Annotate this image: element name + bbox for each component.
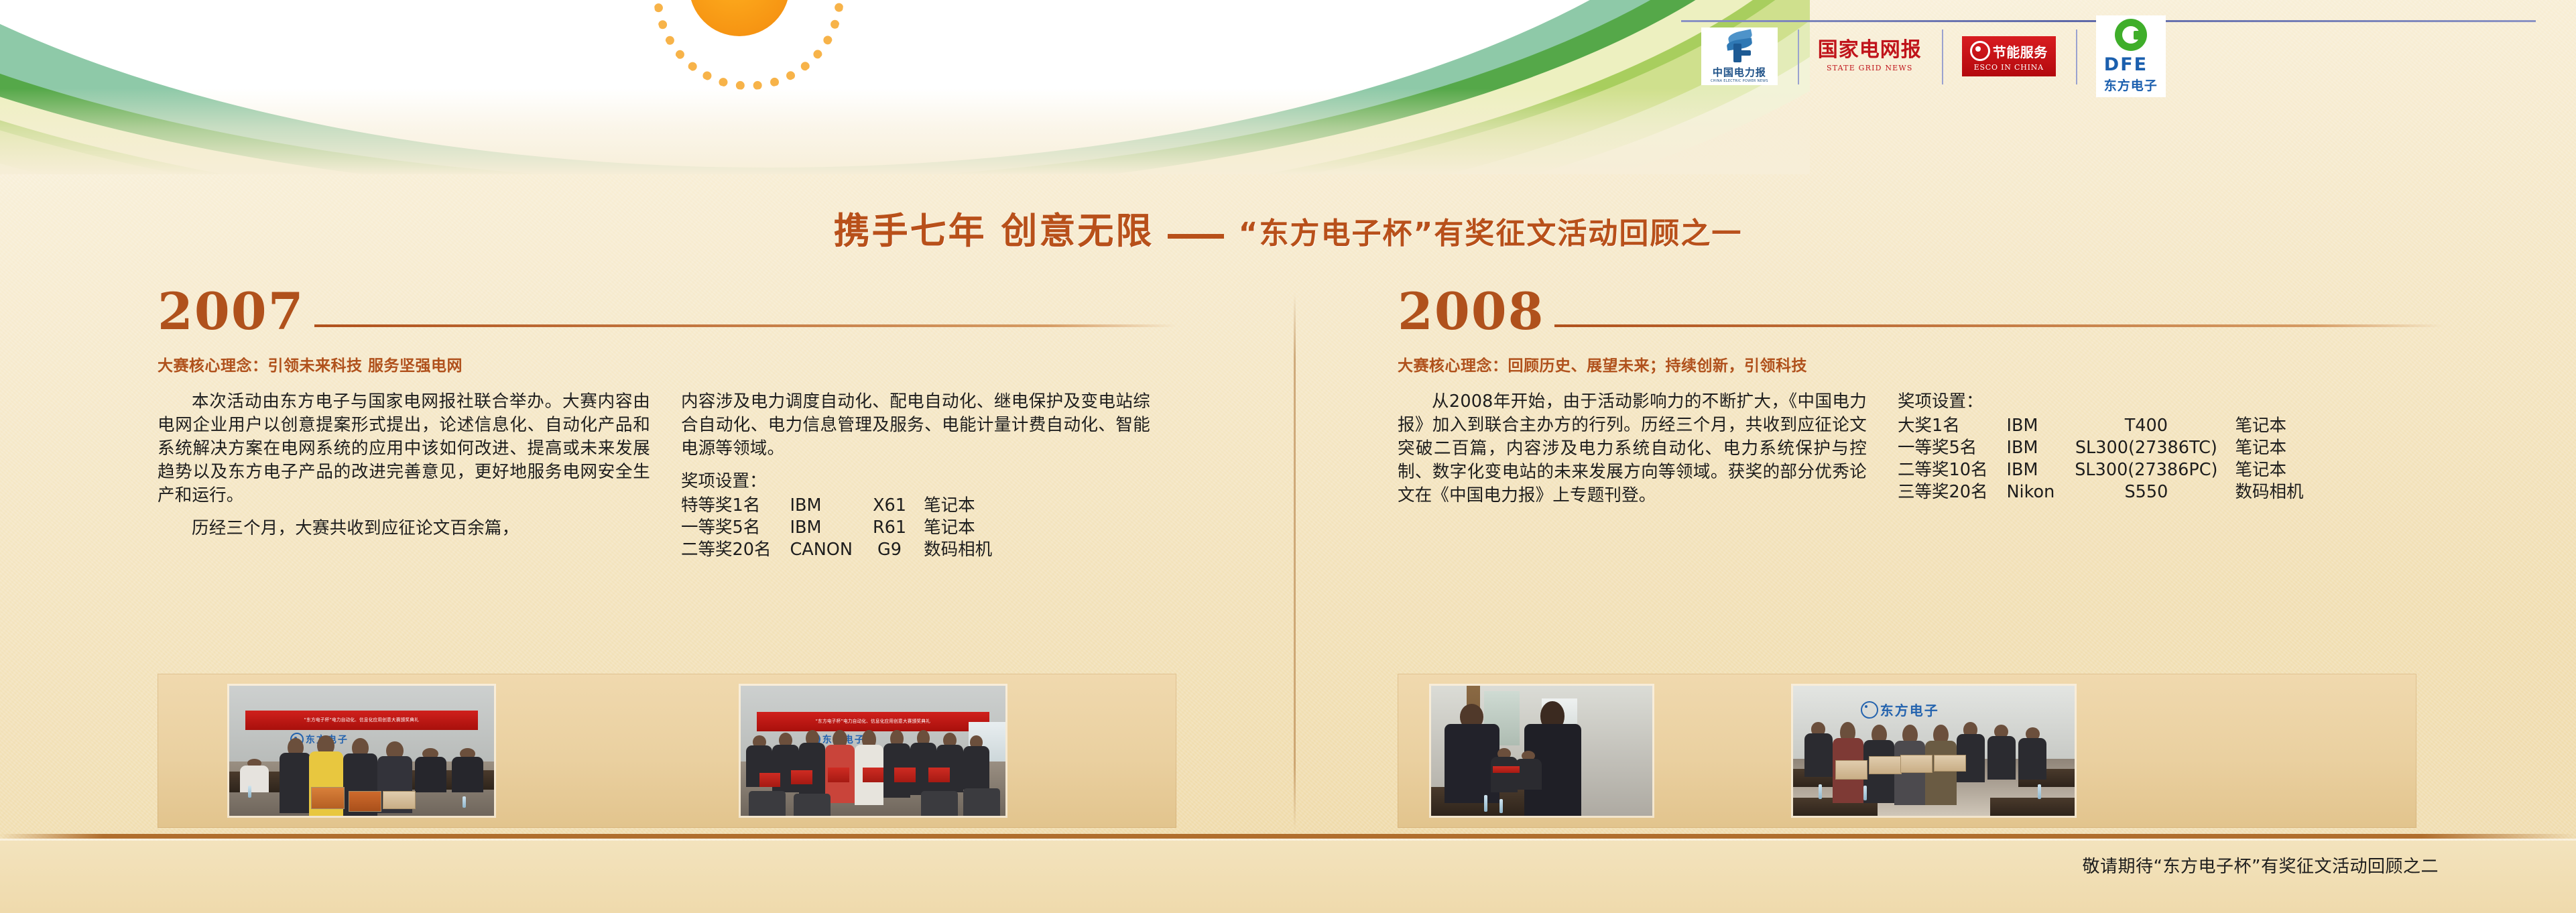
section-2008: 2008 大赛核心理念：回顾历史、展望未来；持续创新，引领科技 从2008年开始… bbox=[1398, 288, 2443, 517]
award-model: SL300(27386PC) bbox=[2075, 459, 2235, 481]
year-rule-2007 bbox=[314, 324, 1176, 327]
core-concept-2008: 大赛核心理念：回顾历史、展望未来；持续创新，引领科技 bbox=[1398, 353, 2443, 375]
award-brand: IBM bbox=[790, 517, 872, 539]
award-brand: IBM bbox=[2006, 437, 2075, 459]
awards-title-2007: 奖项设置： bbox=[681, 470, 1150, 493]
sgn-logo-en: STATE GRID NEWS bbox=[1827, 64, 1913, 72]
award-model: R61 bbox=[873, 517, 924, 539]
table-row: 二等奖10名 IBM SL300(27386PC) 笔记本 bbox=[1898, 459, 2304, 481]
paragraph: 本次活动由东方电子与国家电网报社联合举办。大赛内容由电网企业用户以创意提案形式提… bbox=[158, 390, 650, 507]
logo-state-grid-news: 国家电网报 STATE GRID NEWS bbox=[1798, 25, 1942, 87]
award-prize: 数码相机 bbox=[2235, 481, 2304, 503]
award-ceremony-photo-2: “东方电子杯”电力自动化、信息化应用创意大赛颁奖典礼 东方电子 bbox=[741, 686, 1005, 816]
award-level: 特等奖1名 bbox=[681, 495, 790, 517]
award-model: S550 bbox=[2075, 481, 2235, 503]
cepn-logo-en: CHINA ELECTRIC POWER NEWS bbox=[1711, 79, 1768, 83]
photo-strip-2007: “东方电子杯”电力自动化、信息化应用创意大赛颁奖典礼 东方电子 bbox=[158, 674, 1176, 828]
header-decorative-swoosh bbox=[0, 0, 1810, 174]
award-level: 二等奖20名 bbox=[681, 539, 790, 561]
photo-strip-2008: 东方电子 bbox=[1398, 674, 2416, 828]
title-dash bbox=[1168, 234, 1224, 239]
sponsor-logo-bar: 中国电力报 CHINA ELECTRIC POWER NEWS 国家电网报 ST… bbox=[1681, 5, 2536, 86]
award-prize: 笔记本 bbox=[924, 517, 992, 539]
column-divider bbox=[1294, 294, 1296, 830]
esco-globe-icon bbox=[1970, 41, 1990, 61]
award-brand: IBM bbox=[2006, 459, 2075, 481]
logo-esco-in-china: 节能服务 ESCO IN CHINA bbox=[1942, 25, 2076, 87]
esco-logo-cn: 节能服务 bbox=[1993, 42, 2048, 61]
body-left-2008: 从2008年开始，由于活动影响力的不断扩大，《中国电力报》加入到联合主办方的行列… bbox=[1398, 390, 1867, 517]
award-model: X61 bbox=[873, 495, 924, 517]
esco-logo-en: ESCO IN CHINA bbox=[1974, 63, 2044, 72]
award-ceremony-photo-1: “东方电子杯”电力自动化、信息化应用创意大赛颁奖典礼 东方电子 bbox=[229, 686, 494, 816]
table-row: 三等奖20名 Nikon S550 数码相机 bbox=[1898, 481, 2304, 503]
awards-title-2008: 奖项设置： bbox=[1898, 390, 2407, 414]
award-prize: 笔记本 bbox=[924, 495, 992, 517]
award-level: 二等奖10名 bbox=[1898, 459, 2006, 481]
award-brand: IBM bbox=[790, 495, 872, 517]
table-row: 二等奖20名 CANON G9 数码相机 bbox=[681, 539, 992, 561]
award-brand: CANON bbox=[790, 539, 872, 561]
award-prize: 笔记本 bbox=[2235, 459, 2304, 481]
year-heading-row-2008: 2008 bbox=[1398, 288, 2443, 335]
award-level: 大奖1名 bbox=[1898, 415, 2006, 437]
paragraph: 内容涉及电力调度自动化、配电自动化、继电保护及变电站综合自动化、电力信息管理及服… bbox=[681, 390, 1150, 461]
year-label-2007: 2007 bbox=[158, 288, 305, 335]
footer-rule bbox=[0, 834, 2576, 839]
section-2007: 2007 大赛核心理念：引领未来科技 服务坚强电网 本次活动由东方电子与国家电网… bbox=[158, 288, 1176, 561]
logo-dongfang-electronics: DFE 东方电子 bbox=[2076, 25, 2186, 87]
core-concept-2007: 大赛核心理念：引领未来科技 服务坚强电网 bbox=[158, 353, 1176, 375]
logo-china-electric-power-news: 中国电力报 CHINA ELECTRIC POWER NEWS bbox=[1681, 25, 1798, 87]
paragraph: 从2008年开始，由于活动影响力的不断扩大，《中国电力报》加入到联合主办方的行列… bbox=[1398, 390, 1867, 507]
table-row: 大奖1名 IBM T400 笔记本 bbox=[1898, 415, 2304, 437]
award-prize: 数码相机 bbox=[924, 539, 992, 561]
award-model: T400 bbox=[2075, 415, 2235, 437]
footer-text: 敬请期待“东方电子杯”有奖征文活动回顾之二 bbox=[2083, 853, 2439, 877]
award-model: G9 bbox=[873, 539, 924, 561]
awards-table-2008: 大奖1名 IBM T400 笔记本 一等奖5名 IBM SL300(27386T… bbox=[1898, 415, 2304, 503]
award-prize: 笔记本 bbox=[2235, 415, 2304, 437]
year-label-2008: 2008 bbox=[1398, 288, 1545, 335]
poster-main-title: 携手七年 创意无限 “东方电子杯”有奖征文活动回顾之一 bbox=[0, 201, 2576, 254]
title-subtitle: “东方电子杯”有奖征文活动回顾之一 bbox=[1239, 217, 1743, 251]
sgn-logo-cn: 国家电网报 bbox=[1818, 40, 1922, 60]
table-row: 一等奖5名 IBM SL300(27386TC) 笔记本 bbox=[1898, 437, 2304, 459]
body-right-2007: 内容涉及电力调度自动化、配电自动化、继电保护及变电站综合自动化、电力信息管理及服… bbox=[681, 390, 1150, 561]
footer-rule-highlight bbox=[0, 839, 2576, 841]
body-left-2007: 本次活动由东方电子与国家电网报社联合举办。大赛内容由电网企业用户以创意提案形式提… bbox=[158, 390, 650, 561]
dfe-logo-en: DFE bbox=[2104, 56, 2158, 74]
award-model: SL300(27386TC) bbox=[2075, 437, 2235, 459]
paragraph: 历经三个月，大赛共收到应征论文百余篇， bbox=[158, 517, 650, 540]
title-strong: 携手七年 创意无限 bbox=[834, 210, 1154, 252]
dfe-swirl-icon bbox=[2115, 19, 2147, 51]
awards-table-2007: 特等奖1名 IBM X61 笔记本 一等奖5名 IBM R61 笔记本 二等奖2… bbox=[681, 495, 992, 561]
award-prize: 笔记本 bbox=[2235, 437, 2304, 459]
table-row: 一等奖5名 IBM R61 笔记本 bbox=[681, 517, 992, 539]
award-level: 一等奖5名 bbox=[681, 517, 790, 539]
photo-banner-text: “东方电子杯”电力自动化、信息化应用创意大赛颁奖典礼 bbox=[304, 717, 419, 724]
award-brand: IBM bbox=[2006, 415, 2075, 437]
award-level: 三等奖20名 bbox=[1898, 481, 2006, 503]
year-rule-2008 bbox=[1554, 324, 2443, 327]
body-right-2008: 奖项设置： 大奖1名 IBM T400 笔记本 一等奖5名 IBM SL300(… bbox=[1898, 390, 2407, 517]
award-ceremony-photo-3 bbox=[1431, 686, 1652, 816]
award-ceremony-photo-4: 东方电子 bbox=[1793, 686, 2075, 816]
award-level: 一等奖5名 bbox=[1898, 437, 2006, 459]
poster-canvas: 中国电力报 CHINA ELECTRIC POWER NEWS 国家电网报 ST… bbox=[0, 0, 2576, 913]
photo-banner-text: “东方电子杯”电力自动化、信息化应用创意大赛颁奖典礼 bbox=[816, 719, 930, 725]
award-brand: Nikon bbox=[2006, 481, 2075, 503]
dfe-logo-cn: 东方电子 bbox=[2104, 76, 2158, 94]
cepn-logo-cn: 中国电力报 bbox=[1713, 65, 1766, 79]
year-heading-row-2007: 2007 bbox=[158, 288, 1176, 335]
cepn-emblem-icon bbox=[1724, 30, 1755, 64]
table-row: 特等奖1名 IBM X61 笔记本 bbox=[681, 495, 992, 517]
